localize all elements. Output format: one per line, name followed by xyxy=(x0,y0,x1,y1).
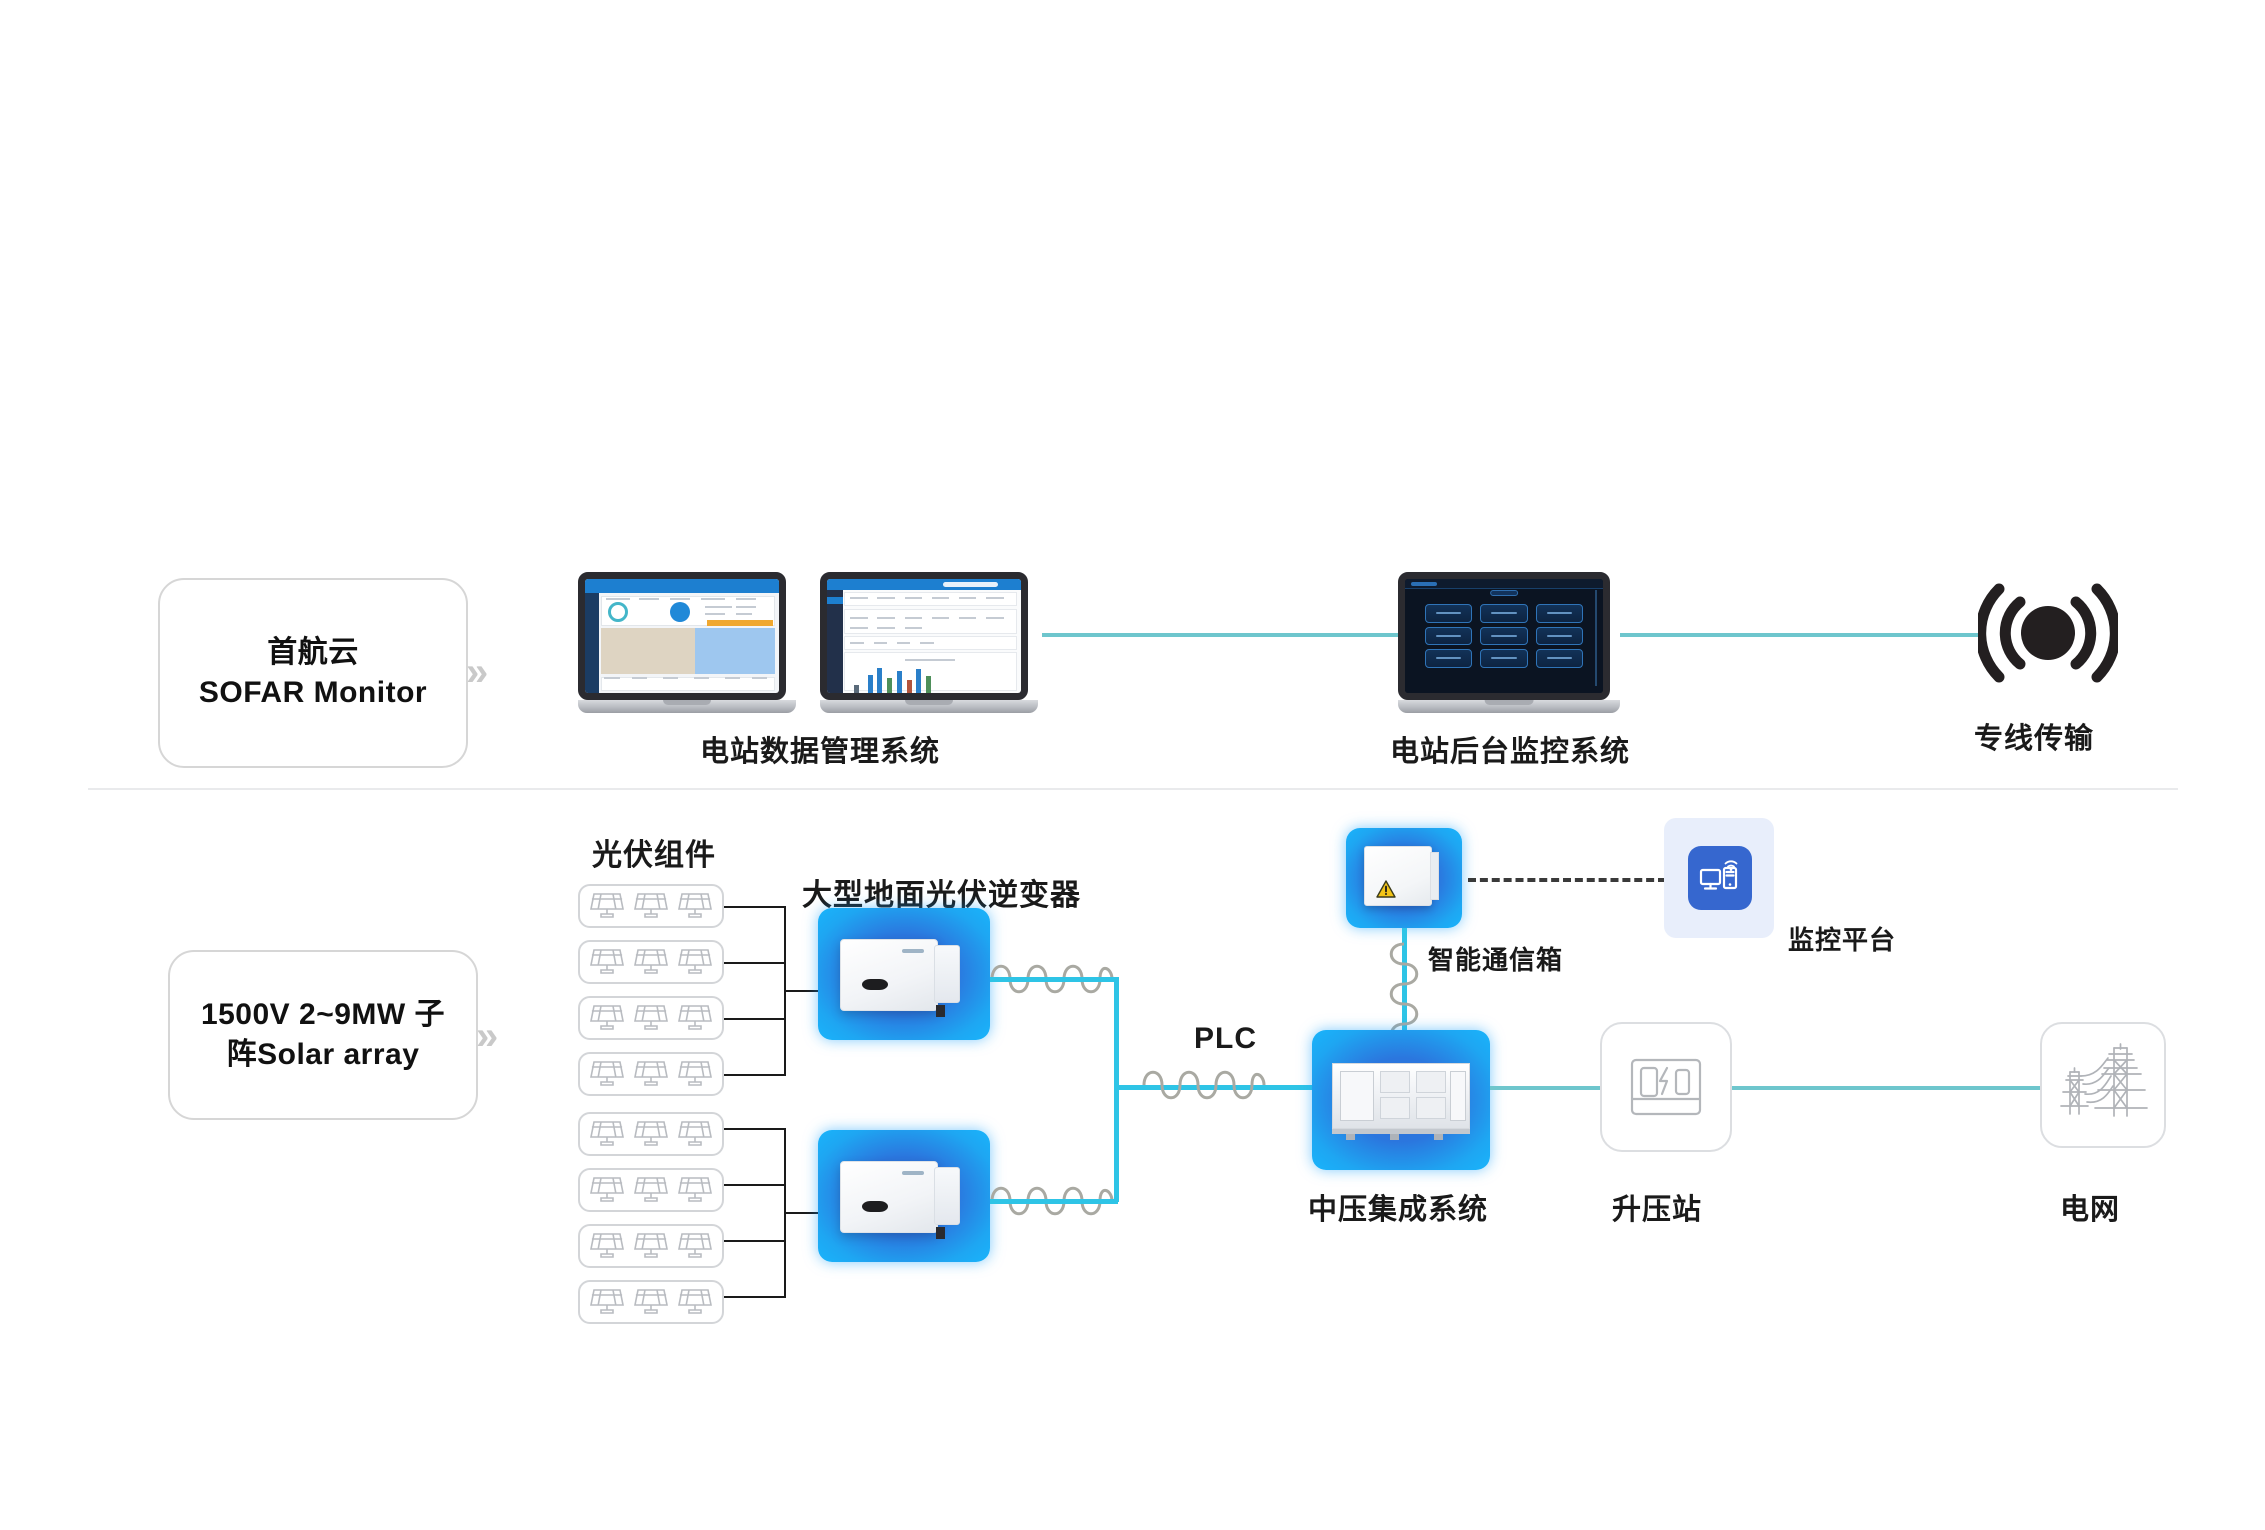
plc-label: PLC xyxy=(1194,1022,1257,1056)
solar-panel-icon xyxy=(590,1175,624,1205)
broadcast-signal-icon xyxy=(1978,578,2118,688)
solar-panel-icon xyxy=(634,1231,668,1261)
pv-bus-branch xyxy=(724,1074,784,1076)
caption-smart-communication-box: 智能通信箱 xyxy=(1428,940,1563,977)
warning-triangle-icon xyxy=(1376,880,1396,903)
callout-sofar-line1: 首航云 xyxy=(267,636,359,669)
solar-panel-icon xyxy=(590,891,624,921)
solar-panel-icon xyxy=(590,1119,624,1149)
solar-panel-icon xyxy=(590,1231,624,1261)
link-inverter1-to-bus xyxy=(990,977,1118,982)
laptop-data-management-1 xyxy=(578,572,796,720)
laptop1-base xyxy=(578,700,796,713)
pv-bus-branch xyxy=(724,1018,784,1020)
backend-console-ui xyxy=(1405,579,1603,693)
pv-panel-row xyxy=(578,940,724,984)
laptop-data-management-2 xyxy=(820,572,1038,720)
connector-booster-to-grid xyxy=(1732,1086,2048,1090)
laptop2-screen xyxy=(820,572,1028,700)
pv-bus-branch xyxy=(724,1296,784,1298)
pv-panel-row xyxy=(578,996,724,1040)
comm-box-edge xyxy=(1430,852,1439,900)
solar-panel-icon xyxy=(634,947,668,977)
coil-signal-icon-plc xyxy=(1140,1064,1268,1106)
pv-bus-branch xyxy=(724,1184,784,1186)
solar-panel-icon xyxy=(678,891,712,921)
laptop-backend-monitor xyxy=(1398,572,1620,720)
caption-backend-monitor-system: 电站后台监控系统 xyxy=(1390,728,1630,770)
solar-panel-icon xyxy=(678,947,712,977)
pv-panel-row xyxy=(578,1168,724,1212)
plc-label-text: PLC xyxy=(1194,1022,1257,1055)
inverter-2 xyxy=(818,1130,990,1262)
console-button-grid xyxy=(1425,604,1583,668)
pv-bus-branch xyxy=(724,1128,784,1130)
solar-panel-icon xyxy=(590,1287,624,1317)
laptop2-base xyxy=(820,700,1038,713)
console-button[interactable] xyxy=(1425,627,1473,646)
console-button[interactable] xyxy=(1425,649,1473,668)
solar-panel-icon xyxy=(678,1059,712,1089)
diagram-canvas: 首航云 SOFAR Monitor » xyxy=(0,0,2265,1530)
console-button[interactable] xyxy=(1536,627,1584,646)
pv-bus-branch xyxy=(724,1240,784,1242)
connector-management-to-backend xyxy=(1042,633,1404,637)
console-button[interactable] xyxy=(1425,604,1473,623)
callout-solar-line1: 1500V 2~9MW 子 xyxy=(201,998,445,1031)
pv-panel-row xyxy=(578,1224,724,1268)
substation-lightning-icon xyxy=(1629,1056,1703,1118)
console-button[interactable] xyxy=(1480,604,1528,623)
callout-sofar-line2: SOFAR Monitor xyxy=(199,676,427,709)
connector-commbox-to-platform xyxy=(1468,878,1666,882)
pv-panel-row xyxy=(578,884,724,928)
smart-communication-box xyxy=(1346,828,1462,928)
callout-sofar-chevron: » xyxy=(466,652,488,692)
solar-panel-icon xyxy=(678,1287,712,1317)
solar-panel-icon xyxy=(634,1175,668,1205)
comm-box-body xyxy=(1364,846,1432,906)
solar-panel-icon xyxy=(634,1287,668,1317)
link-inverter2-to-bus xyxy=(990,1199,1118,1204)
pv-bus-branch xyxy=(724,962,784,964)
solar-panel-icon xyxy=(678,1119,712,1149)
solar-panel-icon xyxy=(590,947,624,977)
solar-panel-icon xyxy=(590,1059,624,1089)
pv-panel-row xyxy=(578,1280,724,1324)
solar-panel-icon xyxy=(634,891,668,921)
laptop1-screen xyxy=(578,572,786,700)
callout-sofar-monitor: 首航云 SOFAR Monitor xyxy=(158,578,468,768)
section-divider xyxy=(88,788,2178,790)
laptop1-dashboard-ui xyxy=(585,579,779,693)
backend-monitor-screen xyxy=(1398,572,1610,700)
console-button[interactable] xyxy=(1536,649,1584,668)
solar-panel-icon xyxy=(678,1175,712,1205)
console-button[interactable] xyxy=(1536,604,1584,623)
pv-bus-branch xyxy=(724,906,784,908)
mv-integrated-system xyxy=(1312,1030,1490,1170)
callout-solar-array: 1500V 2~9MW 子 阵Solar array xyxy=(168,950,478,1120)
solar-panel-icon xyxy=(678,1231,712,1261)
booster-station xyxy=(1600,1022,1732,1152)
caption-data-management-system: 电站数据管理系统 xyxy=(700,728,940,770)
solar-panel-icon xyxy=(590,1003,624,1033)
caption-mv-integrated-system: 中压集成系统 xyxy=(1308,1186,1488,1228)
console-button[interactable] xyxy=(1480,649,1528,668)
inverter-1 xyxy=(818,908,990,1040)
pv-panel-row xyxy=(578,1052,724,1096)
solar-panel-icon xyxy=(634,1119,668,1149)
solar-panel-icon xyxy=(634,1059,668,1089)
grid-node xyxy=(2040,1022,2166,1148)
console-button[interactable] xyxy=(1480,627,1528,646)
solar-panel-icon xyxy=(634,1003,668,1033)
title-pv-modules: 光伏组件 xyxy=(592,830,716,874)
desktop-wifi-icon xyxy=(1688,846,1752,910)
solar-panel-icon xyxy=(678,1003,712,1033)
caption-grid: 电网 xyxy=(2060,1186,2120,1228)
pv-panel-row xyxy=(578,1112,724,1156)
backend-monitor-base xyxy=(1398,700,1620,713)
callout-solar-line2: 阵Solar array xyxy=(227,1038,420,1071)
caption-booster-station: 升压站 xyxy=(1612,1186,1702,1228)
caption-dedicated-line: 专线传输 xyxy=(1974,715,2094,757)
caption-monitor-platform: 监控平台 xyxy=(1788,920,1896,957)
transmission-tower-icon xyxy=(2057,1042,2149,1128)
laptop2-table-ui xyxy=(827,579,1021,693)
callout-solar-chevron: » xyxy=(476,1016,498,1056)
connector-backend-to-dedicated-line xyxy=(1620,633,1980,637)
